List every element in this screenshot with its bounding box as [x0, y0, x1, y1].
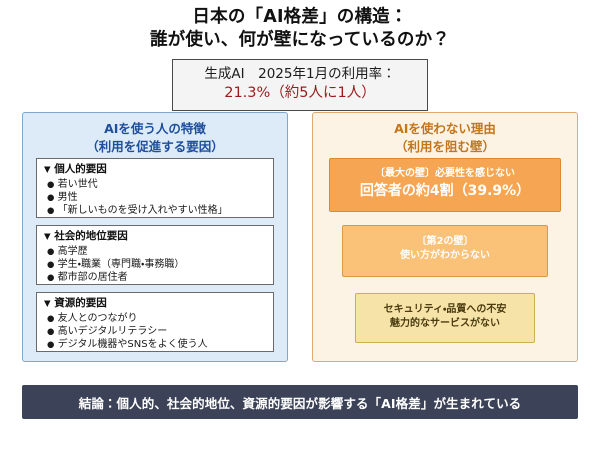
bullet-icon: ● — [47, 180, 54, 190]
list-item-label: 友人とのつながり — [58, 313, 138, 324]
usage-rate-label: 生成AI 2025年1月の利用率： — [179, 65, 421, 83]
factor-group-personal: ▼ 個人的要因 ● 若い世代 ● 男性 ● 「新しいものを受け入れやすい性格」 — [36, 158, 274, 218]
bullet-icon: ● — [47, 206, 54, 216]
list-item: ● 学生・職業（専門職・事務職） — [44, 258, 266, 271]
list-item-label: 高学歴 — [58, 246, 88, 257]
factor-group-resource-title: ▼ 資源的要因 — [44, 297, 266, 311]
page-title: 日本の「AI格差」の構造： 誰が使い、何が壁になっているのか？ — [0, 6, 600, 52]
bullet-icon: ● — [47, 340, 54, 350]
bullet-icon: ● — [47, 327, 54, 337]
list-item: ● 男性 — [44, 191, 266, 204]
factor-group-resource-label: 資源的要因 — [54, 297, 107, 309]
infographic-slide: 日本の「AI格差」の構造： 誰が使い、何が壁になっているのか？ 生成AI 202… — [0, 0, 600, 449]
factor-group-personal-title: ▼ 個人的要因 — [44, 163, 266, 177]
panel-ai-users-header-line-1: AIを使う人の特徴 — [23, 120, 287, 138]
factor-group-resource: ▼ 資源的要因 ● 友人とのつながり ● 高いデジタルリテラシー ● デジタル機… — [36, 292, 274, 352]
list-item: ● 友人とのつながり — [44, 312, 266, 325]
factor-group-personal-label: 個人的要因 — [54, 163, 107, 175]
barrier-card-primary-line-2: 回答者の約4割（39.9%） — [330, 181, 560, 201]
bullet-icon: ● — [47, 314, 54, 324]
bullet-icon: ● — [47, 273, 54, 283]
usage-rate-value: 21.3%（約5人に1人） — [179, 84, 421, 104]
barrier-card-tertiary-line-2: 魅力的なサービスがない — [356, 317, 534, 331]
barrier-card-primary: 〔最大の壁〕必要性を感じない 回答者の約4割（39.9%） — [329, 158, 561, 212]
list-item: ● 高いデジタルリテラシー — [44, 325, 266, 338]
list-item: ● デジタル機器やSNSをよく使う人 — [44, 338, 266, 351]
panel-ai-users-header: AIを使う人の特徴 （利用を促進する要因） — [23, 113, 287, 156]
barrier-card-secondary-line-1: 〔第2の壁〕 — [343, 235, 547, 249]
panel-ai-barriers: AIを使わない理由 （利用を阻む壁） 〔最大の壁〕必要性を感じない 回答者の約4… — [312, 112, 578, 362]
barrier-card-tertiary: セキュリティ・品質への不安 魅力的なサービスがない — [355, 293, 535, 343]
list-item: ● 都市部の居住者 — [44, 271, 266, 284]
triangle-down-icon: ▼ — [44, 299, 51, 309]
factor-group-social-status: ▼ 社会的地位要因 ● 高学歴 ● 学生・職業（専門職・事務職） ● 都市部の居… — [36, 225, 274, 285]
factor-group-social-status-title: ▼ 社会的地位要因 — [44, 230, 266, 244]
list-item-label: 男性 — [58, 192, 78, 203]
panel-ai-barriers-header: AIを使わない理由 （利用を阻む壁） — [313, 113, 577, 156]
usage-rate-stat-box: 生成AI 2025年1月の利用率： 21.3%（約5人に1人） — [172, 59, 428, 111]
list-item-label: 「新しいものを受け入れやすい性格」 — [58, 205, 228, 216]
list-item-label: 都市部の居住者 — [58, 272, 128, 283]
conclusion-text: 結論：個人的、社会的地位、資源的要因が影響する「AI格差」が生まれている — [79, 393, 522, 412]
bullet-icon: ● — [47, 247, 54, 257]
barrier-card-primary-line-1: 〔最大の壁〕必要性を感じない — [330, 167, 560, 181]
conclusion-bar: 結論：個人的、社会的地位、資源的要因が影響する「AI格差」が生まれている — [22, 385, 578, 419]
panel-ai-users-header-line-2: （利用を促進する要因） — [23, 138, 287, 156]
list-item: ● 高学歴 — [44, 245, 266, 258]
title-line-1: 日本の「AI格差」の構造： — [0, 6, 600, 29]
bullet-icon: ● — [47, 193, 54, 203]
triangle-down-icon: ▼ — [44, 232, 51, 242]
panel-ai-users: AIを使う人の特徴 （利用を促進する要因） ▼ 個人的要因 ● 若い世代 ● 男… — [22, 112, 288, 362]
factor-group-social-status-label: 社会的地位要因 — [54, 230, 128, 242]
list-item: ● 若い世代 — [44, 178, 266, 191]
list-item-label: 学生・職業（専門職・事務職） — [58, 259, 185, 270]
title-line-2: 誰が使い、何が壁になっているのか？ — [0, 29, 600, 52]
triangle-down-icon: ▼ — [44, 165, 51, 175]
panel-ai-barriers-header-line-2: （利用を阻む壁） — [313, 138, 577, 156]
bullet-icon: ● — [47, 260, 54, 270]
list-item-label: 若い世代 — [58, 179, 98, 190]
panel-ai-barriers-header-line-1: AIを使わない理由 — [313, 120, 577, 138]
barrier-card-secondary-line-2: 使い方がわからない — [343, 249, 547, 263]
list-item-label: 高いデジタルリテラシー — [58, 326, 168, 337]
list-item-label: デジタル機器やSNSをよく使う人 — [58, 339, 208, 350]
barrier-card-tertiary-line-1: セキュリティ・品質への不安 — [356, 303, 534, 317]
list-item: ● 「新しいものを受け入れやすい性格」 — [44, 204, 266, 217]
barrier-card-secondary: 〔第2の壁〕 使い方がわからない — [342, 225, 548, 277]
